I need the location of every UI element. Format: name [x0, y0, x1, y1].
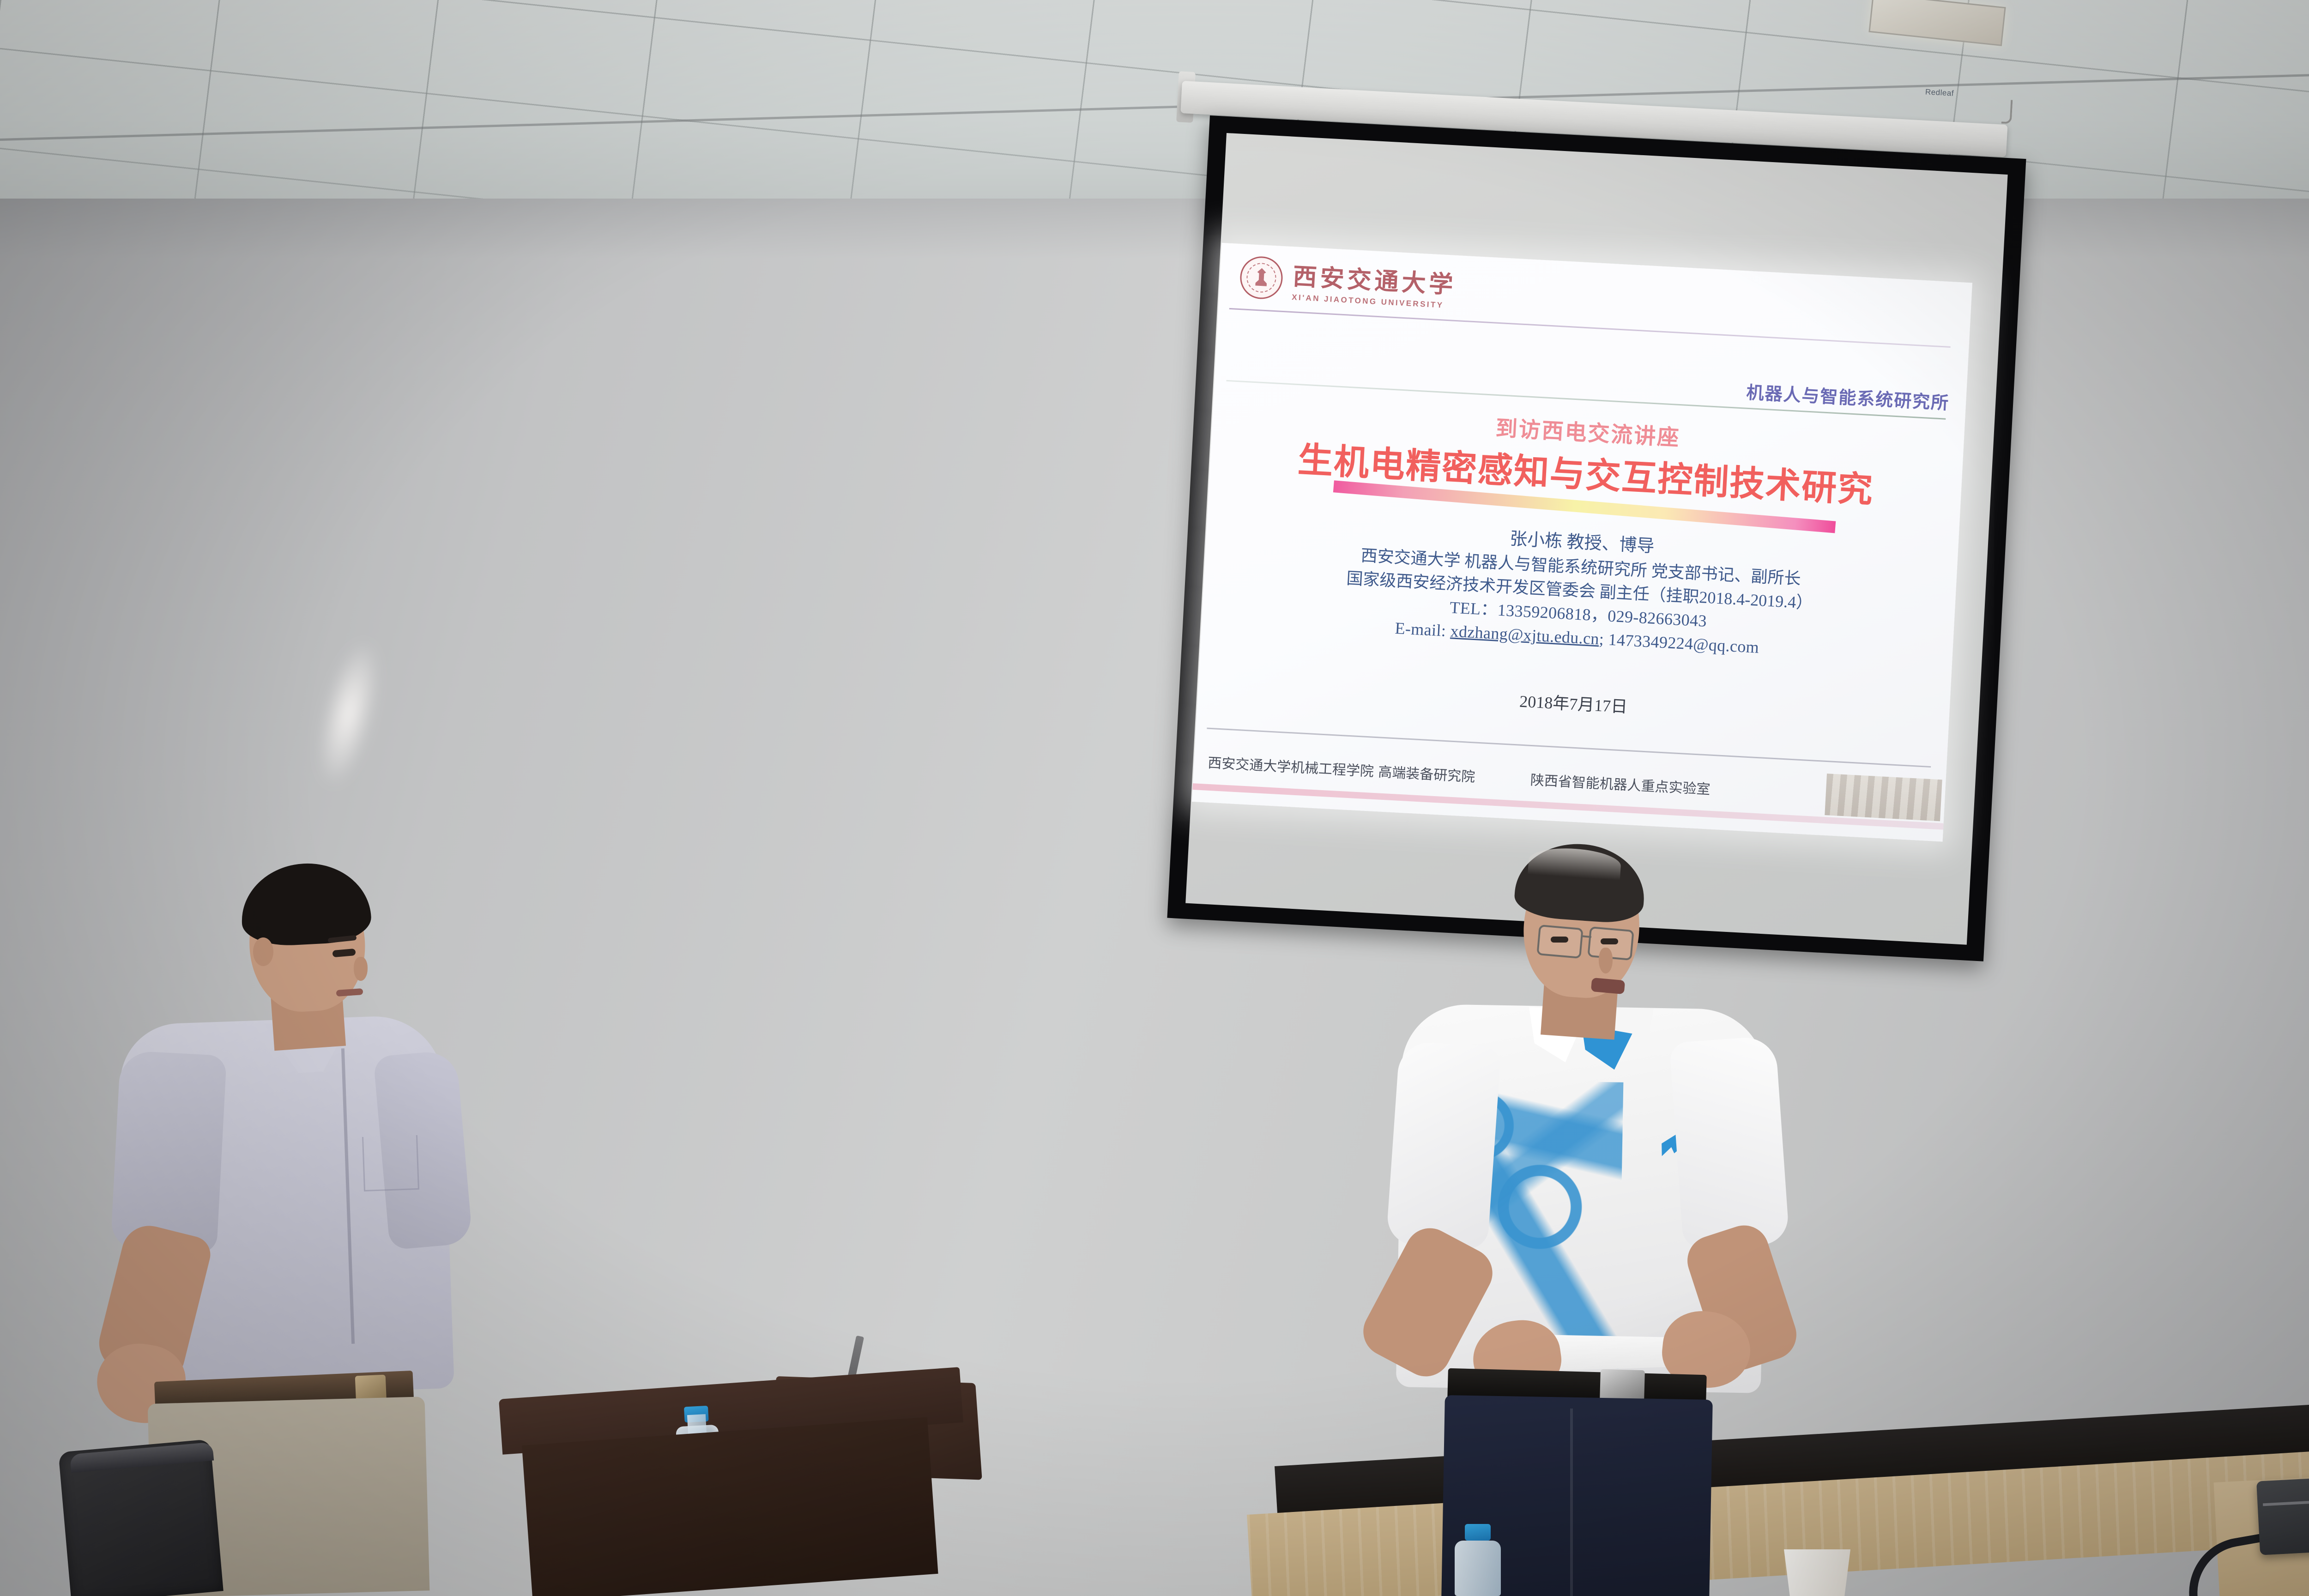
speaker-eye-left — [1551, 937, 1568, 943]
footer-right-text: 陕西省智能机器人重点实验室 — [1530, 768, 1711, 798]
speaker-sleeve-right — [1669, 1036, 1790, 1251]
left-man-pocket — [362, 1135, 419, 1191]
email-label: E-mail: — [1395, 619, 1447, 640]
speaker-mouth — [1591, 978, 1625, 994]
foreground-bottle-cap — [1465, 1524, 1491, 1541]
foreground-bottle-body — [1455, 1541, 1501, 1596]
projector-screen[interactable]: 西安交通大学 XI'AN JIAOTONG UNIVERSITY 机器人与智能系… — [1167, 115, 2026, 961]
speaker-eye-right — [1601, 938, 1618, 944]
left-man-mouth — [336, 988, 363, 997]
speaker-trouser-crease — [1570, 1409, 1573, 1596]
left-man-hair — [239, 860, 373, 948]
slide-logo-row: 西安交通大学 XI'AN JIAOTONG UNIVERSITY — [1227, 247, 1950, 344]
paper-cup-foreground[interactable] — [1780, 1549, 1854, 1596]
speaker-nose — [1599, 948, 1613, 973]
xjtu-emblem-icon — [1239, 255, 1284, 300]
left-man-ear — [253, 937, 273, 966]
slide-date: 2018年7月17日 — [1197, 671, 1949, 735]
footer-left-text: 西安交通大学机械工程学院 高端装备研究院 — [1207, 751, 1475, 786]
laptop-bag[interactable] — [2256, 1474, 2309, 1555]
projected-slide: 西安交通大学 XI'AN JIAOTONG UNIVERSITY 机器人与智能系… — [1192, 243, 1972, 842]
university-name-cn: 西安交通大学 — [1292, 257, 1457, 300]
presenter-block: 张小栋 教授、博导 西安交通大学 机器人与智能系统研究所 党支部书记、副所长 国… — [1201, 513, 1958, 672]
email-secondary: 1473349224@qq.com — [1608, 630, 1760, 657]
email-primary[interactable]: xdzhang@xjtu.edu.cn — [1450, 622, 1600, 648]
screen-pull-hook-icon[interactable] — [2001, 99, 2013, 124]
lectern-body — [522, 1417, 938, 1596]
left-man-nose — [354, 957, 368, 981]
left-man-sleeve-left — [110, 1050, 227, 1254]
email-separator: ; — [1599, 630, 1609, 649]
lectern[interactable] — [499, 1367, 979, 1596]
lecture-room-photo: Redleaf 西安交通大学 XI'AN JIAOTONG UNIVERSITY… — [0, 0, 2309, 1596]
person-speaker-right — [1390, 840, 1796, 1596]
screen-surface: 西安交通大学 XI'AN JIAOTONG UNIVERSITY 机器人与智能系… — [1185, 133, 2007, 945]
water-bottle-foreground[interactable] — [1455, 1524, 1501, 1596]
footer-photo-strip — [1825, 774, 1942, 821]
speaker-sleeve-left — [1386, 1040, 1501, 1250]
university-name-block: 西安交通大学 XI'AN JIAOTONG UNIVERSITY — [1292, 257, 1457, 311]
roller-brand-label: Redleaf — [1918, 87, 1960, 99]
